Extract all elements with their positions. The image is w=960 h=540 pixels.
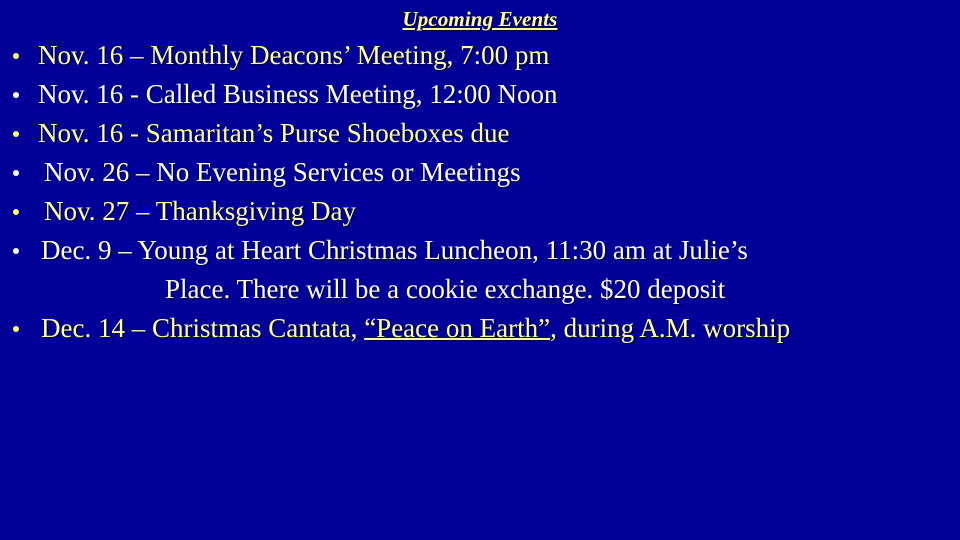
- event-list-item: Nov. 16 - Samaritan’s Purse Shoeboxes du…: [0, 114, 960, 153]
- event-text-segment: Dec. 9 – Young at Heart Christmas Lunche…: [41, 235, 748, 265]
- upcoming-events-list: Nov. 16 – Monthly Deacons’ Meeting, 7:00…: [0, 36, 960, 348]
- event-text: Dec. 9 – Young at Heart Christmas Lunche…: [0, 231, 960, 270]
- bullet-icon: [13, 92, 19, 98]
- page-title: Upcoming Events: [0, 6, 960, 32]
- event-text-segment: Nov. 16 - Samaritan’s Purse Shoeboxes du…: [38, 118, 509, 148]
- presentation-slide: Upcoming Events Nov. 16 – Monthly Deacon…: [0, 0, 960, 540]
- event-list-item: Nov. 26 – No Evening Services or Meeting…: [0, 153, 960, 192]
- bullet-icon: [13, 53, 19, 59]
- event-text: Place. There will be a cookie exchange. …: [0, 270, 960, 309]
- event-text: Nov. 27 – Thanksgiving Day: [0, 192, 960, 231]
- event-text: Nov. 26 – No Evening Services or Meeting…: [0, 153, 960, 192]
- event-text: Dec. 14 – Christmas Cantata, “Peace on E…: [0, 309, 960, 348]
- event-list-item: Nov. 16 – Monthly Deacons’ Meeting, 7:00…: [0, 36, 960, 75]
- event-list-item: Dec. 14 – Christmas Cantata, “Peace on E…: [0, 309, 960, 348]
- event-text-segment: Dec. 14 – Christmas Cantata,: [41, 313, 364, 343]
- bullet-icon: [13, 170, 19, 176]
- event-list-item-continuation: Place. There will be a cookie exchange. …: [0, 270, 960, 309]
- bullet-icon: [13, 131, 19, 137]
- event-list-item: Nov. 27 – Thanksgiving Day: [0, 192, 960, 231]
- event-text-segment: Nov. 16 - Called Business Meeting, 12:00…: [38, 79, 557, 109]
- event-text-segment: Nov. 27 – Thanksgiving Day: [44, 196, 356, 226]
- bullet-icon: [13, 209, 19, 215]
- emphasized-title-text: “Peace on Earth”: [364, 313, 550, 343]
- bullet-icon: [13, 248, 19, 254]
- bullet-icon: [13, 326, 19, 332]
- event-text-segment: Place. There will be a cookie exchange. …: [165, 274, 725, 304]
- event-text: Nov. 16 - Samaritan’s Purse Shoeboxes du…: [0, 114, 960, 153]
- event-text-segment: , during A.M. worship: [550, 313, 790, 343]
- event-text: Nov. 16 - Called Business Meeting, 12:00…: [0, 75, 960, 114]
- event-list-item: Nov. 16 - Called Business Meeting, 12:00…: [0, 75, 960, 114]
- event-text: Nov. 16 – Monthly Deacons’ Meeting, 7:00…: [0, 36, 960, 75]
- event-text-segment: Nov. 26 – No Evening Services or Meeting…: [44, 157, 521, 187]
- event-text-segment: Nov. 16 – Monthly Deacons’ Meeting, 7:00…: [38, 40, 549, 70]
- event-list-item: Dec. 9 – Young at Heart Christmas Lunche…: [0, 231, 960, 270]
